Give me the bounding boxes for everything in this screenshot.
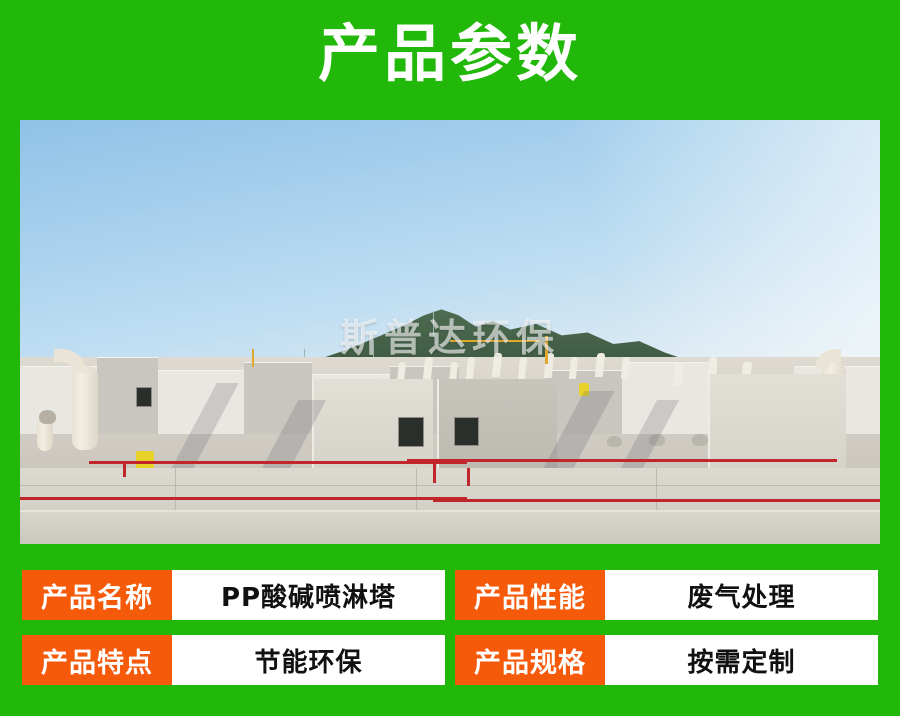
spec-label-product-feature: 产品特点: [22, 635, 172, 685]
cell-gap: [445, 635, 455, 685]
scrubber-fan: [39, 410, 56, 424]
antenna-mast: [433, 311, 434, 337]
red-pipe-rail: [433, 499, 880, 502]
product-photo: 斯普达环保: [20, 120, 880, 544]
red-pipe-riser: [467, 468, 470, 486]
scrubber-tower: [72, 366, 98, 450]
penthouse-door: [136, 387, 152, 407]
red-pipe-rail: [407, 459, 837, 462]
page-title: 产品参数: [0, 18, 900, 90]
roof-fan: [607, 436, 622, 447]
building-block: [622, 362, 717, 434]
deck-seam: [175, 468, 176, 515]
spec-value-product-spec: 按需定制: [605, 635, 878, 685]
red-pipe-riser: [123, 461, 126, 477]
tower-crane-mast: [252, 349, 254, 367]
table-row: 产品特点 节能环保 产品规格 按需定制: [22, 635, 878, 685]
spec-value-product-feature: 节能环保: [172, 635, 445, 685]
roof-deck: [20, 468, 880, 515]
cell-gap: [445, 570, 455, 620]
spec-value-product-performance: 废气处理: [605, 570, 878, 620]
deck-seam: [416, 468, 417, 515]
tower-crane-mast: [545, 336, 548, 364]
roof-fan: [692, 434, 708, 446]
product-parameter-banner: 产品参数: [0, 0, 900, 727]
spec-label-product-performance: 产品性能: [455, 570, 605, 620]
penthouse-door: [398, 417, 424, 447]
deck-seam: [656, 468, 657, 515]
red-pipe-riser: [433, 459, 436, 483]
spec-value-product-name: PP酸碱喷淋塔: [172, 570, 445, 620]
red-pipe-rail: [20, 497, 467, 500]
tower-crane-jib: [450, 340, 540, 342]
spec-label-product-spec: 产品规格: [455, 635, 605, 685]
spec-label-product-name: 产品名称: [22, 570, 172, 620]
deck-seam: [20, 485, 880, 486]
parapet-wall: [20, 510, 880, 544]
spec-table: 产品名称 PP酸碱喷淋塔 产品性能 废气处理 产品特点 节能环保 产品规格 按需…: [22, 570, 878, 685]
table-row: 产品名称 PP酸碱喷淋塔 产品性能 废气处理: [22, 570, 878, 620]
exhaust-stack: [672, 362, 684, 386]
penthouse-door: [454, 417, 479, 446]
